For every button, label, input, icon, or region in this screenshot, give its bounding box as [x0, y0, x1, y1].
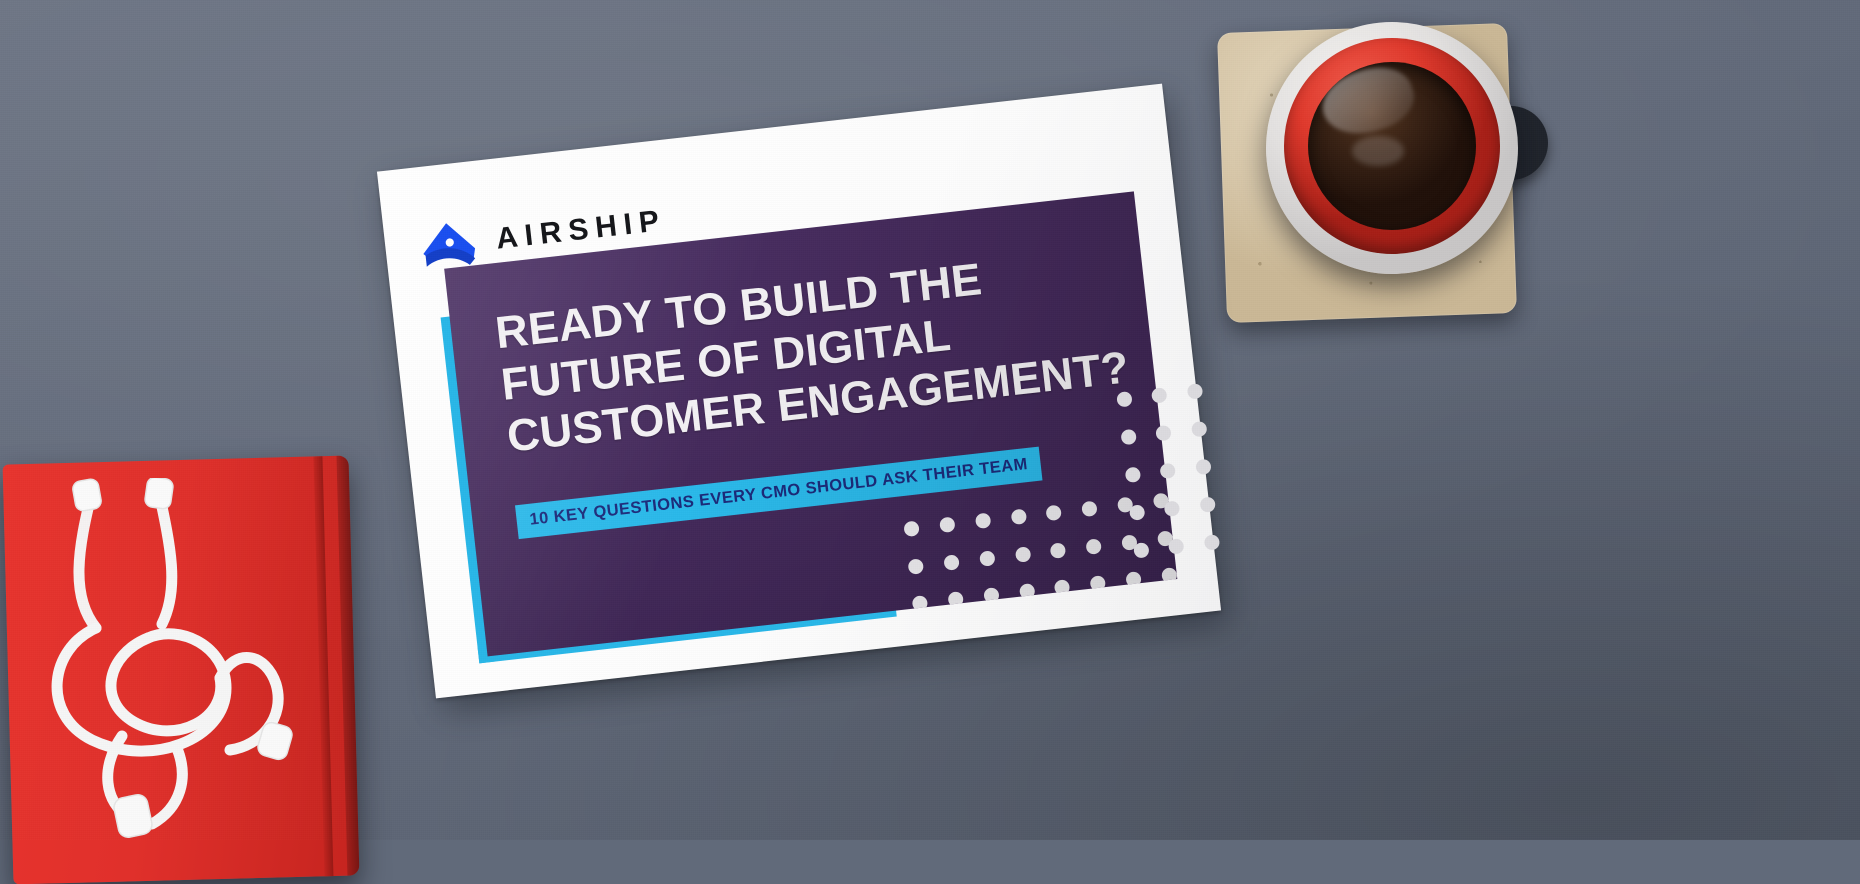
coffee-mug	[1266, 22, 1518, 274]
pattern-dot	[1050, 542, 1067, 559]
pattern-dot	[1046, 505, 1063, 522]
pattern-dot	[983, 587, 1000, 604]
coffee-highlight	[1315, 62, 1422, 145]
pattern-dot	[912, 595, 929, 612]
pattern-dot	[1133, 542, 1150, 559]
accent-strip-left	[441, 316, 497, 664]
pattern-dot	[952, 629, 969, 646]
mug-handle	[1474, 106, 1548, 180]
dot-pattern-outer	[1105, 370, 1232, 571]
accent-strip-bottom	[477, 600, 896, 664]
red-notebook	[3, 456, 360, 884]
pattern-dot	[1164, 500, 1181, 517]
cork-coaster	[1217, 23, 1517, 323]
flyer-drop-shadow	[384, 97, 1228, 712]
pattern-dot	[1152, 493, 1169, 510]
pattern-dot	[1054, 579, 1071, 596]
dot-pattern	[892, 480, 1177, 656]
pattern-dot	[1160, 462, 1177, 479]
coffee-liquid	[1308, 62, 1476, 230]
notebook-elastic-band	[313, 456, 333, 876]
subtitle-text: 10 KEY QUESTIONS EVERY CMO SHOULD ASK TH…	[529, 455, 1029, 529]
pattern-dot	[904, 521, 921, 538]
airship-logo-mark	[419, 219, 478, 271]
pattern-dot	[1090, 575, 1107, 592]
pattern-dot	[1125, 571, 1142, 588]
earphones	[30, 478, 330, 840]
pattern-dot	[1019, 583, 1036, 600]
pattern-dot	[908, 558, 925, 575]
pattern-dot	[939, 517, 956, 534]
pattern-dot	[1010, 509, 1027, 526]
desk-background: AIRSHIP READY TO BUILD THE FUTURE OF DIG…	[0, 0, 1860, 840]
pattern-dot	[1014, 546, 1031, 563]
pattern-dot	[1199, 496, 1216, 513]
pattern-dot	[1129, 504, 1146, 521]
pattern-dot	[987, 625, 1004, 642]
pattern-dot	[1129, 609, 1146, 626]
pattern-dot	[1168, 538, 1185, 555]
pattern-dot	[948, 591, 965, 608]
pattern-dot	[1186, 383, 1203, 400]
pattern-dot	[1125, 466, 1142, 483]
pattern-dot	[1120, 428, 1137, 445]
pattern-dot	[1117, 497, 1134, 514]
pattern-dot	[1085, 538, 1102, 555]
pattern-dot	[1191, 420, 1208, 437]
purple-panel: READY TO BUILD THE FUTURE OF DIGITAL CUS…	[444, 191, 1177, 656]
ebook-cover-flyer[interactable]: AIRSHIP READY TO BUILD THE FUTURE OF DIG…	[377, 84, 1221, 699]
pattern-dot	[1157, 530, 1174, 547]
panel-sheen	[444, 191, 1177, 656]
pattern-dot	[1058, 617, 1075, 634]
flyer-page: AIRSHIP READY TO BUILD THE FUTURE OF DIG…	[377, 84, 1221, 699]
pattern-dot	[1165, 605, 1177, 622]
pattern-dot	[1081, 501, 1098, 518]
pattern-dot	[1151, 387, 1168, 404]
coffee-highlight-secondary	[1352, 136, 1404, 166]
pattern-dot	[1023, 621, 1040, 638]
subtitle-bar: 10 KEY QUESTIONS EVERY CMO SHOULD ASK TH…	[515, 447, 1043, 540]
headline-line-2: FUTURE OF DIGITAL	[499, 293, 1101, 412]
pattern-dot	[1203, 534, 1220, 551]
brand-wordmark: AIRSHIP	[495, 206, 668, 255]
brand-logo: AIRSHIP	[419, 198, 668, 271]
pattern-dot	[1116, 390, 1133, 407]
pattern-dot	[1156, 424, 1173, 441]
pattern-dot	[1121, 534, 1138, 551]
pattern-dot	[1161, 567, 1178, 584]
mug-saucer	[1266, 22, 1518, 274]
mug-rim	[1284, 38, 1500, 254]
pattern-dot	[943, 554, 960, 571]
notebook-page-edge	[336, 456, 359, 876]
pattern-dot	[1094, 613, 1111, 630]
pattern-dot	[975, 513, 992, 530]
headline: READY TO BUILD THE FUTURE OF DIGITAL CUS…	[493, 241, 1107, 463]
pattern-dot	[916, 633, 933, 650]
headline-line-1: READY TO BUILD THE	[493, 241, 1095, 360]
pattern-dot	[979, 550, 996, 567]
headline-line-3: CUSTOMER ENGAGEMENT?	[504, 344, 1106, 463]
pattern-dot	[1195, 458, 1212, 475]
